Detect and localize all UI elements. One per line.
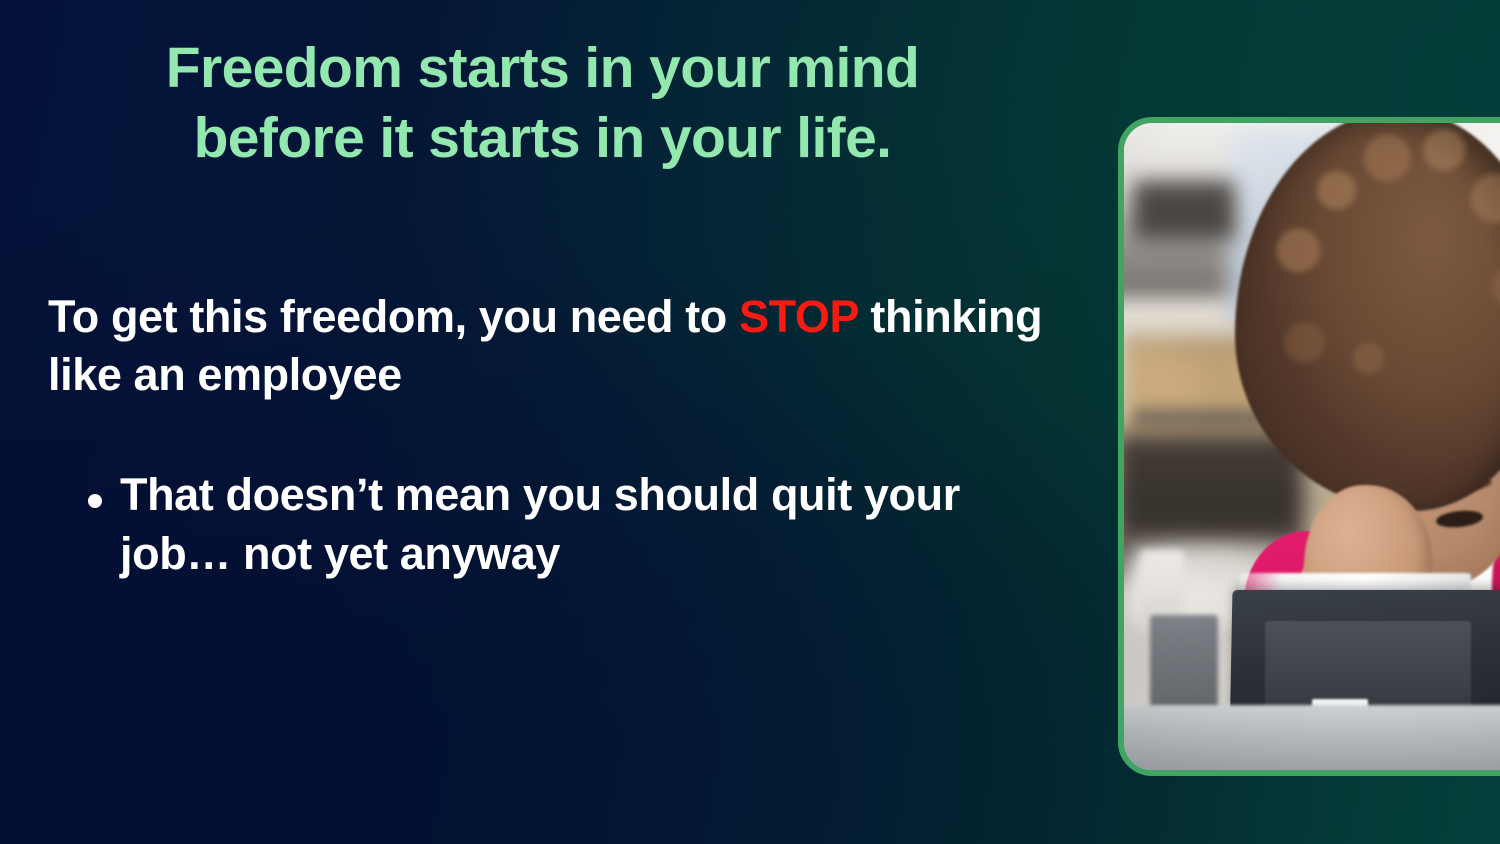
- headline-line-1: Freedom starts in your mind: [40, 34, 1045, 104]
- stop-emphasis: STOP: [739, 291, 858, 342]
- page-title: Freedom starts in your mind before it st…: [40, 34, 1045, 173]
- text-column: Freedom starts in your mind before it st…: [0, 0, 1080, 844]
- list-item: That doesn’t mean you should quit your j…: [88, 466, 1058, 583]
- headline-line-2: before it starts in your life.: [40, 104, 1045, 174]
- body-text-before: To get this freedom, you need to: [48, 291, 739, 342]
- bullet-item-label: That doesn’t mean you should quit your j…: [120, 466, 1058, 583]
- photo-vignette: [1124, 123, 1500, 770]
- stressed-woman-photo: [1124, 123, 1500, 770]
- photo-frame: [1118, 117, 1500, 776]
- body-paragraph: To get this freedom, you need to STOP th…: [48, 288, 1058, 403]
- slide-canvas: Freedom starts in your mind before it st…: [0, 0, 1500, 844]
- bullet-dot-icon: [88, 494, 102, 508]
